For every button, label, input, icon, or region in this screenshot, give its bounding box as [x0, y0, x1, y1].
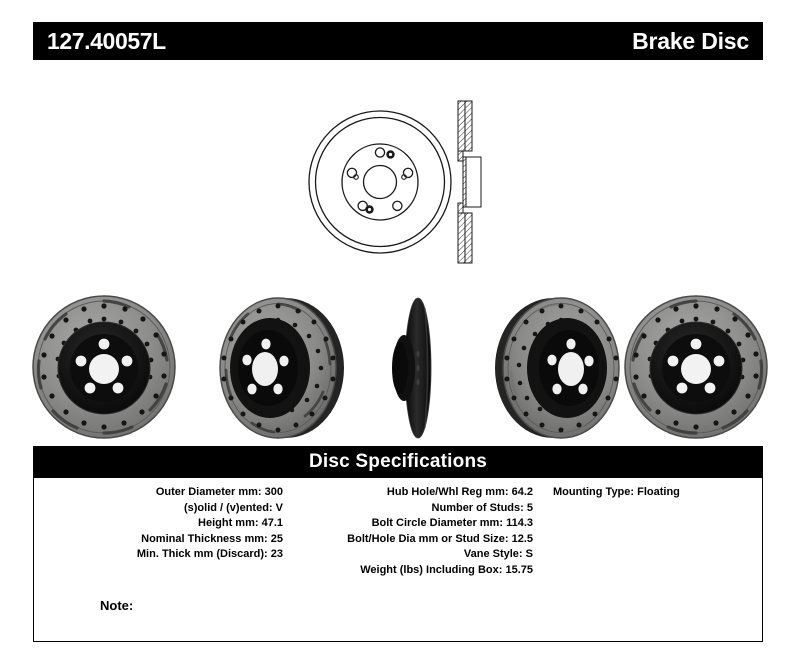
spec-value: V — [276, 502, 283, 514]
rotor-photo-front-drilled-slotted — [28, 292, 180, 444]
line-drawing-area — [0, 75, 800, 285]
rotor-face-line-drawing — [305, 95, 455, 270]
spec-value: 300 — [265, 486, 283, 498]
spec-value: 12.5 — [512, 533, 533, 545]
note-area: Note: — [34, 583, 762, 641]
spec-row: Min. Thick mm (Discard): 23 — [34, 547, 283, 563]
spec-label: Min. Thick mm (Discard): — [137, 548, 268, 560]
spec-row: Nominal Thickness mm: 25 — [34, 532, 283, 548]
spec-row: Weight (lbs) Including Box: 15.75 — [289, 563, 533, 579]
spec-row: Bolt/Hole Dia mm or Stud Size: 12.5 — [289, 532, 533, 548]
spec-value: Floating — [637, 486, 680, 498]
rotor-edge-section-line-drawing — [452, 93, 486, 271]
spec-label: Mounting Type: — [553, 486, 634, 498]
spec-column-middle: Hub Hole/Whl Reg mm: 64.2 Number of Stud… — [289, 485, 539, 579]
spec-label: Bolt/Hole Dia mm or Stud Size: — [347, 533, 508, 545]
spec-panel-heading: Disc Specifications — [34, 447, 762, 478]
spec-row: Bolt Circle Diameter mm: 114.3 — [289, 516, 533, 532]
spec-value: 23 — [271, 548, 283, 560]
spec-row: Vane Style: S — [289, 547, 533, 563]
spec-label: Outer Diameter mm: — [156, 486, 262, 498]
spec-row: Height mm: 47.1 — [34, 516, 283, 532]
spec-label: Vane Style: — [464, 548, 523, 560]
disc-specifications-panel: Disc Specifications Outer Diameter mm: 3… — [33, 446, 763, 642]
rotor-photo-angled-right — [487, 292, 632, 444]
spec-value: 25 — [271, 533, 283, 545]
spec-row: Number of Studs: 5 — [289, 501, 533, 517]
spec-label: (s)olid / (v)ented: — [184, 502, 273, 514]
document-title-bar: 127.40057L Brake Disc — [33, 22, 763, 60]
spec-column-left: Outer Diameter mm: 300 (s)olid / (v)ente… — [34, 485, 289, 563]
spec-row: Outer Diameter mm: 300 — [34, 485, 283, 501]
spec-label: Bolt Circle Diameter mm: — [372, 517, 503, 529]
spec-row: Hub Hole/Whl Reg mm: 64.2 — [289, 485, 533, 501]
spec-label: Weight (lbs) Including Box: — [360, 564, 502, 576]
spec-columns: Outer Diameter mm: 300 (s)olid / (v)ente… — [34, 478, 762, 583]
spec-value: 5 — [527, 502, 533, 514]
spec-label: Height mm: — [198, 517, 259, 529]
spec-column-right: Mounting Type: Floating — [539, 485, 762, 501]
spec-label: Number of Studs: — [432, 502, 524, 514]
rotor-photo-angled-left — [210, 292, 355, 444]
spec-value: 64.2 — [512, 486, 533, 498]
spec-value: S — [526, 548, 533, 560]
note-label: Note: — [100, 598, 133, 613]
spec-label: Hub Hole/Whl Reg mm: — [387, 486, 509, 498]
product-type-label: Brake Disc — [632, 28, 749, 55]
spec-value: 47.1 — [262, 517, 283, 529]
rotor-photo-edge-on — [378, 292, 448, 444]
spec-value: 15.75 — [505, 564, 533, 576]
part-number: 127.40057L — [47, 28, 166, 55]
spec-row: (s)olid / (v)ented: V — [34, 501, 283, 517]
spec-value: 114.3 — [506, 517, 533, 529]
rotor-photo-row — [0, 292, 800, 447]
spec-row: Mounting Type: Floating — [553, 485, 762, 501]
rotor-photo-front-right — [620, 292, 772, 444]
spec-label: Nominal Thickness mm: — [141, 533, 268, 545]
